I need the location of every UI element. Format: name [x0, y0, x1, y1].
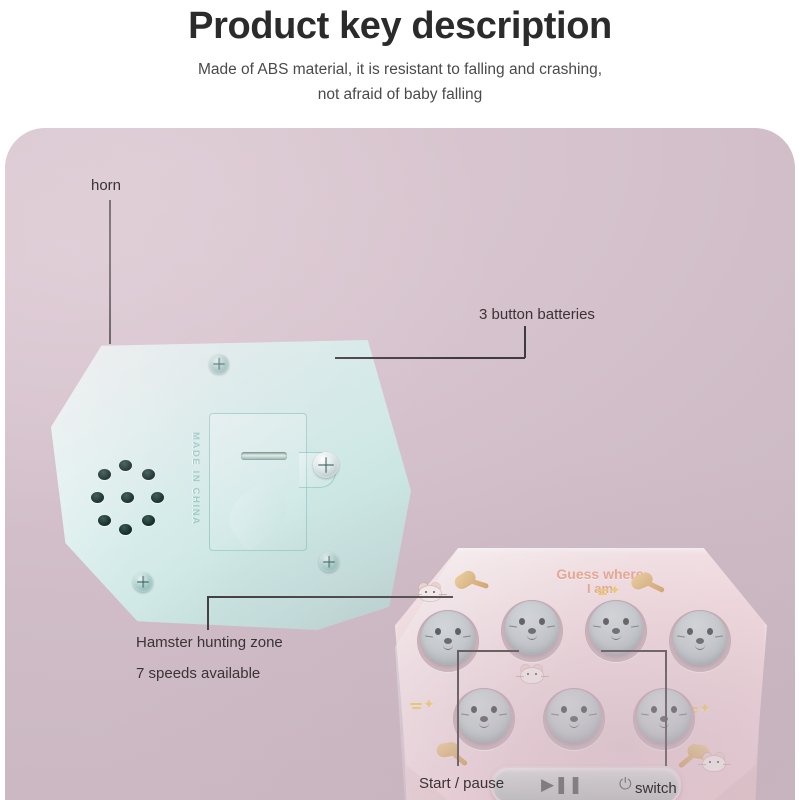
product-infographic: Product key description Made of ABS mate… [0, 0, 800, 800]
mole-button[interactable] [543, 688, 605, 750]
hammer-icon [631, 574, 665, 600]
mole-button[interactable] [585, 600, 647, 662]
mouse-icon [419, 584, 445, 602]
mole-button[interactable] [669, 610, 731, 672]
leader-line-batteries-h [335, 357, 525, 359]
leader-line-batteries-v [524, 326, 526, 358]
callout-speeds: 7 speeds available [136, 662, 260, 685]
case-screw-bottom-right [319, 552, 339, 572]
mole-button[interactable] [633, 688, 695, 750]
product-photo: MADE IN CHINA Guess where I am ✦ ✦ [5, 128, 795, 800]
made-in-china-text: MADE IN CHINA [190, 432, 201, 542]
header: Product key description Made of ABS mate… [0, 0, 800, 107]
subtitle-line-2: not afraid of baby falling [0, 82, 800, 107]
leader-line-switch-v [665, 650, 667, 766]
callout-hunting-zone: Hamster hunting zone [136, 631, 283, 654]
hammer-icon [453, 570, 490, 600]
mouse-icon [521, 666, 547, 684]
star-icon: ✦ [609, 582, 621, 599]
leader-line-hunting-zone-v [207, 596, 209, 630]
leader-line-start-pause-h [457, 650, 519, 652]
leader-line-switch-h [601, 650, 667, 652]
battery-cover-screw [313, 452, 339, 478]
leader-line-hunting-zone-h [207, 596, 453, 598]
mouse-icon [703, 754, 729, 772]
leader-line-start-pause-v [457, 650, 459, 766]
subtitle-line-1: Made of ABS material, it is resistant to… [0, 57, 800, 82]
mole-button[interactable] [501, 600, 563, 662]
pink-device-front: Guess where I am ✦ ✦ ✦ ✦ [395, 548, 767, 800]
blue-device-back: MADE IN CHINA [51, 340, 411, 630]
mole-button[interactable] [453, 688, 515, 750]
callout-switch: switch [635, 777, 677, 800]
star-icon: ✦ [699, 700, 711, 717]
case-screw-top [209, 354, 229, 374]
battery-cover-slot [241, 452, 287, 460]
page-title: Product key description [0, 4, 800, 49]
case-screw-bottom-left [133, 572, 153, 592]
play-pause-icon[interactable]: ▶❚❚ [541, 775, 583, 795]
mole-button[interactable] [417, 610, 479, 672]
page-subtitle: Made of ABS material, it is resistant to… [0, 57, 800, 107]
speaker-grille [95, 460, 173, 538]
star-icon: ✦ [423, 696, 435, 713]
power-icon[interactable]: ⏻ [619, 775, 632, 795]
callout-batteries: 3 button batteries [479, 303, 595, 326]
leader-line-horn [109, 200, 111, 344]
callout-start-pause: Start / pause [419, 772, 504, 795]
callout-horn: horn [91, 174, 121, 197]
